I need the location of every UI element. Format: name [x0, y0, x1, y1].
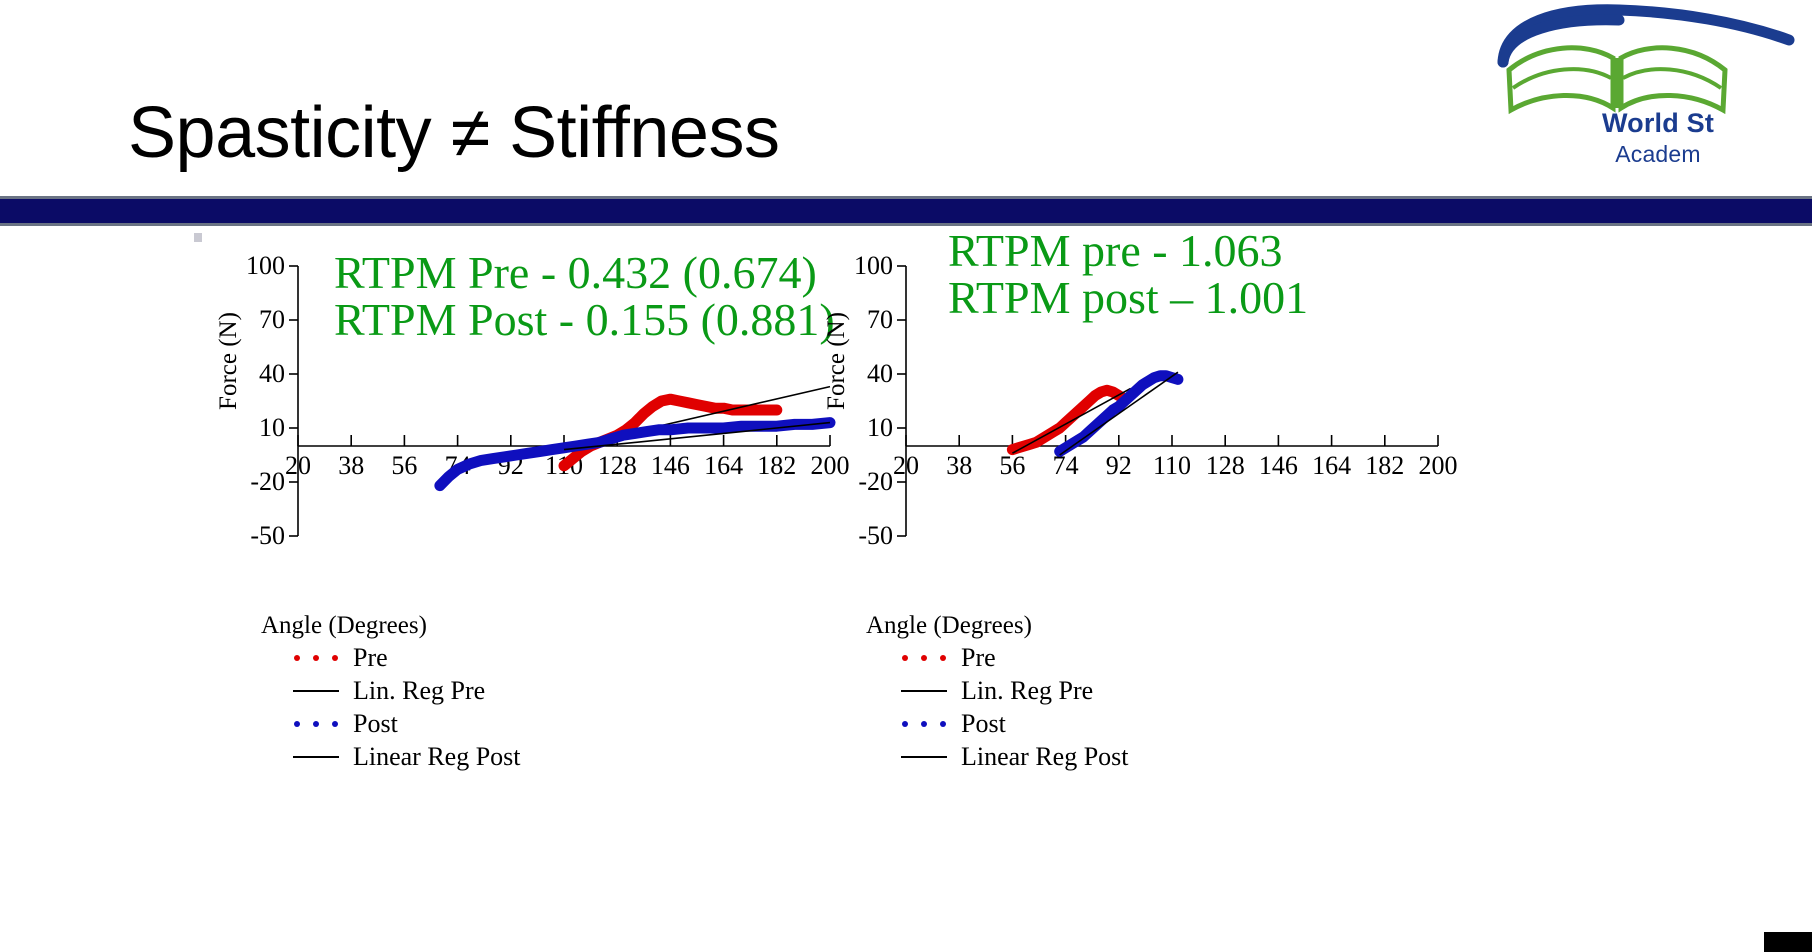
legend-label: Linear Reg Post [347, 742, 521, 772]
legend-label: Pre [347, 643, 388, 673]
legend-dot [332, 655, 338, 661]
annotation-line-1: RTPM Pre - 0.432 (0.674) [334, 250, 835, 297]
legend-item: Lin. Reg Pre [285, 675, 521, 707]
legend-dot [313, 655, 319, 661]
legend-item: Pre [285, 642, 521, 674]
page-title: Spasticity ≠ Stiffness [128, 96, 779, 172]
world-stroke-academy-logo: World St Academ [1489, 4, 1812, 174]
legend-line-icon [285, 756, 347, 758]
svg-text:40: 40 [259, 359, 285, 388]
svg-text:10: 10 [259, 413, 285, 442]
svg-text:164: 164 [1312, 451, 1351, 480]
svg-text:56: 56 [999, 451, 1025, 480]
chart-left-xaxis-title: Angle (Degrees) [261, 612, 427, 640]
stray-mark [194, 233, 202, 242]
svg-text:110: 110 [1153, 451, 1191, 480]
legend-dots [902, 655, 946, 661]
chart-left-annotation: RTPM Pre - 0.432 (0.674) RTPM Post - 0.1… [334, 250, 835, 344]
svg-text:70: 70 [259, 305, 285, 334]
legend-dot [902, 721, 908, 727]
svg-text:146: 146 [651, 451, 690, 480]
svg-text:-20: -20 [250, 467, 285, 496]
logo-line-1: World St [1493, 108, 1812, 139]
legend-dots-icon [893, 721, 955, 727]
svg-text:92: 92 [1106, 451, 1132, 480]
legend-dots-icon [893, 655, 955, 661]
legend-label: Post [955, 709, 1006, 739]
svg-text:Force (N): Force (N) [215, 312, 242, 410]
legend-dots [294, 721, 338, 727]
corner-chip [1764, 932, 1812, 952]
logo-line-2: Academ [1493, 141, 1812, 168]
legend-label: Post [347, 709, 398, 739]
legend-dot [294, 721, 300, 727]
legend-line [901, 756, 947, 758]
legend-label: Pre [955, 643, 996, 673]
legend-dot [921, 721, 927, 727]
logo-mark-icon [1489, 4, 1812, 116]
svg-text:20: 20 [285, 451, 311, 480]
legend-line-icon [893, 756, 955, 758]
legend-item: Linear Reg Post [893, 741, 1129, 773]
chart-right-legend: PreLin. Reg PrePostLinear Reg Post [893, 642, 1129, 774]
legend-item: Post [893, 708, 1129, 740]
svg-text:-50: -50 [858, 521, 893, 550]
svg-text:128: 128 [598, 451, 637, 480]
annotation-line-2: RTPM post – 1.001 [948, 275, 1308, 322]
chart-right-annotation: RTPM pre - 1.063 RTPM post – 1.001 [948, 228, 1308, 322]
legend-dot [313, 721, 319, 727]
svg-text:164: 164 [704, 451, 743, 480]
legend-line [901, 690, 947, 692]
svg-text:100: 100 [246, 251, 285, 280]
legend-item: Pre [893, 642, 1129, 674]
svg-text:20: 20 [893, 451, 919, 480]
svg-text:-20: -20 [858, 467, 893, 496]
svg-text:40: 40 [867, 359, 893, 388]
svg-text:200: 200 [1419, 451, 1458, 480]
legend-dot [902, 655, 908, 661]
legend-dot [332, 721, 338, 727]
chart-left-legend: PreLin. Reg PrePostLinear Reg Post [285, 642, 521, 774]
svg-text:10: 10 [867, 413, 893, 442]
legend-dots [902, 721, 946, 727]
annotation-line-1: RTPM pre - 1.063 [948, 228, 1308, 275]
legend-dot [921, 655, 927, 661]
legend-line-icon [893, 690, 955, 692]
legend-dots-icon [285, 655, 347, 661]
legend-item: Linear Reg Post [285, 741, 521, 773]
svg-text:182: 182 [757, 451, 796, 480]
legend-dots-icon [285, 721, 347, 727]
svg-text:38: 38 [338, 451, 364, 480]
svg-text:Force (N): Force (N) [823, 312, 850, 410]
svg-text:70: 70 [867, 305, 893, 334]
legend-label: Lin. Reg Pre [955, 676, 1093, 706]
legend-item: Post [285, 708, 521, 740]
divider-bar [0, 196, 1812, 226]
svg-text:38: 38 [946, 451, 972, 480]
legend-dot [294, 655, 300, 661]
svg-text:56: 56 [391, 451, 417, 480]
legend-item: Lin. Reg Pre [893, 675, 1129, 707]
legend-line-icon [285, 690, 347, 692]
legend-dots [294, 655, 338, 661]
logo-text: World St Academ [1493, 108, 1812, 168]
legend-dot [940, 655, 946, 661]
legend-dot [940, 721, 946, 727]
legend-line [293, 756, 339, 758]
svg-text:-50: -50 [250, 521, 285, 550]
legend-label: Linear Reg Post [955, 742, 1129, 772]
svg-text:100: 100 [854, 251, 893, 280]
chart-right-xaxis-title: Angle (Degrees) [866, 612, 1032, 640]
svg-text:182: 182 [1365, 451, 1404, 480]
svg-text:146: 146 [1259, 451, 1298, 480]
legend-line [293, 690, 339, 692]
legend-label: Lin. Reg Pre [347, 676, 485, 706]
annotation-line-2: RTPM Post - 0.155 (0.881) [334, 297, 835, 344]
svg-text:128: 128 [1206, 451, 1245, 480]
slide-canvas: Spasticity ≠ Stiffness World St Academ -… [0, 0, 1812, 952]
